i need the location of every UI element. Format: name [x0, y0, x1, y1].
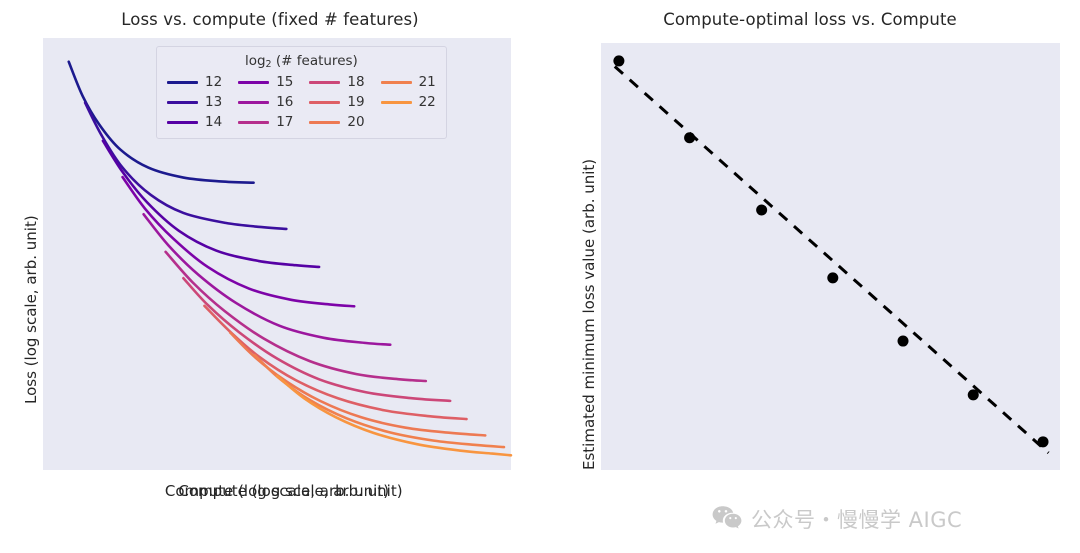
panel-loss-vs-compute: Loss vs. compute (fixed # features) Loss… — [0, 0, 540, 553]
legend-swatch — [238, 101, 269, 104]
plot-area-right — [601, 43, 1060, 470]
legend-swatch — [381, 101, 412, 104]
loss-curve-19 — [204, 306, 466, 419]
legend-entry-13[interactable]: 13 — [167, 94, 222, 111]
legend-swatch — [309, 81, 340, 84]
legend-entry-19[interactable]: 19 — [309, 94, 364, 111]
legend-entry-18[interactable]: 18 — [309, 74, 364, 91]
scatter-point-4 — [898, 336, 909, 347]
legend-swatch — [309, 121, 340, 124]
legend-entry-16[interactable]: 16 — [238, 94, 293, 111]
legend-swatch — [238, 81, 269, 84]
legend-entry-12[interactable]: 12 — [167, 74, 222, 91]
legend-label: 21 — [419, 76, 436, 90]
legend-swatch — [381, 81, 412, 84]
loss-curve-16 — [144, 214, 391, 344]
loss-curve-17 — [166, 252, 426, 381]
scatter-point-2 — [756, 204, 767, 215]
legend-title: log2 (# features) — [167, 53, 436, 70]
legend-swatch — [238, 121, 269, 124]
legend-entry-21[interactable]: 21 — [381, 74, 436, 91]
chart-title-right: Compute-optimal loss vs. Compute — [540, 10, 1080, 29]
loss-curve-20 — [230, 333, 485, 436]
legend-entry-22[interactable]: 22 — [381, 94, 436, 111]
legend-label: 16 — [276, 96, 293, 110]
scatter-trend-svg — [601, 43, 1060, 470]
legend-label: 17 — [276, 116, 293, 130]
legend-title-rest: (# features) — [272, 53, 358, 69]
scatter-point-6 — [1038, 436, 1049, 447]
y-axis-label-left: Loss (log scale, arb. unit) — [22, 215, 40, 404]
legend-label: 22 — [419, 96, 436, 110]
legend-label: 12 — [205, 76, 222, 90]
legend-swatch — [167, 101, 198, 104]
legend-entry-17[interactable]: 17 — [238, 114, 293, 131]
legend-label: 19 — [347, 96, 364, 110]
x-axis-label-right: Compute (log scale, arb. unit) — [61, 482, 520, 500]
figure-canvas: Loss vs. compute (fixed # features) Loss… — [0, 0, 1080, 553]
legend-label: 15 — [276, 76, 293, 90]
legend-label: 18 — [347, 76, 364, 90]
legend-box: log2 (# features) 1213141516171819202122 — [156, 46, 447, 139]
legend-swatch — [167, 81, 198, 84]
panel-compute-optimal-loss: Compute-optimal loss vs. Compute — [540, 0, 1080, 553]
legend-label: 13 — [205, 96, 222, 110]
legend-title-base: log — [245, 53, 266, 69]
y-axis-label-right: Estimated minimum loss value (arb. unit) — [580, 159, 598, 470]
scatter-point-5 — [968, 389, 979, 400]
legend-entry-20[interactable]: 20 — [309, 114, 364, 131]
loss-curve-15 — [123, 177, 355, 306]
scatter-point-3 — [827, 272, 838, 283]
legend-label: 20 — [347, 116, 364, 130]
scatter-point-1 — [684, 132, 695, 143]
legend-entries: 1213141516171819202122 — [167, 74, 436, 131]
legend-swatch — [309, 101, 340, 104]
trendline — [615, 66, 1049, 452]
legend-entry-15[interactable]: 15 — [238, 74, 293, 91]
legend-entry-14[interactable]: 14 — [167, 114, 222, 131]
loss-curve-18 — [183, 278, 450, 401]
legend-label: 14 — [205, 116, 222, 130]
legend-swatch — [167, 121, 198, 124]
chart-title-left: Loss vs. compute (fixed # features) — [0, 10, 540, 29]
scatter-point-0 — [613, 55, 624, 66]
